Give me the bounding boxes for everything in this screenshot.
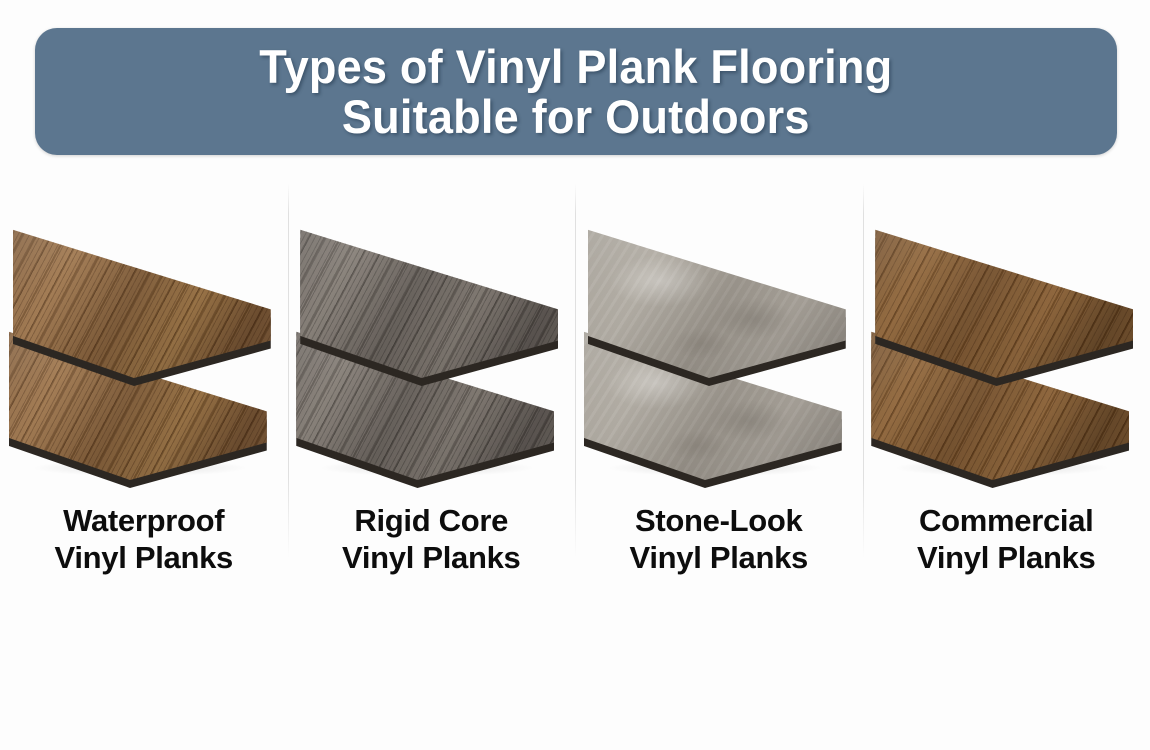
plank-type-columns: Waterproof Vinyl Planks Rigid Core Vinyl… — [0, 178, 1150, 618]
plank-stack-stone-look — [584, 192, 854, 482]
page-title: Types of Vinyl Plank Flooring Suitable f… — [242, 42, 910, 142]
plank-type-column-waterproof: Waterproof Vinyl Planks — [0, 178, 288, 618]
header-banner: Types of Vinyl Plank Flooring Suitable f… — [35, 28, 1117, 155]
plank-type-label: Stone-Look Vinyl Planks — [630, 502, 808, 576]
plank-type-column-stone-look: Stone-Look Vinyl Planks — [575, 178, 863, 618]
plank-stack-commercial — [871, 192, 1141, 482]
plank-stack-rigid-core — [296, 192, 566, 482]
plank-type-label: Rigid Core Vinyl Planks — [342, 502, 520, 576]
plank-type-column-rigid-core: Rigid Core Vinyl Planks — [288, 178, 576, 618]
plank-stack-waterproof — [9, 192, 279, 482]
plank-type-label: Waterproof Vinyl Planks — [55, 502, 233, 576]
plank-type-label: Commercial Vinyl Planks — [917, 502, 1095, 576]
plank-type-column-commercial: Commercial Vinyl Planks — [863, 178, 1150, 618]
infographic-root: Types of Vinyl Plank Flooring Suitable f… — [0, 0, 1150, 750]
